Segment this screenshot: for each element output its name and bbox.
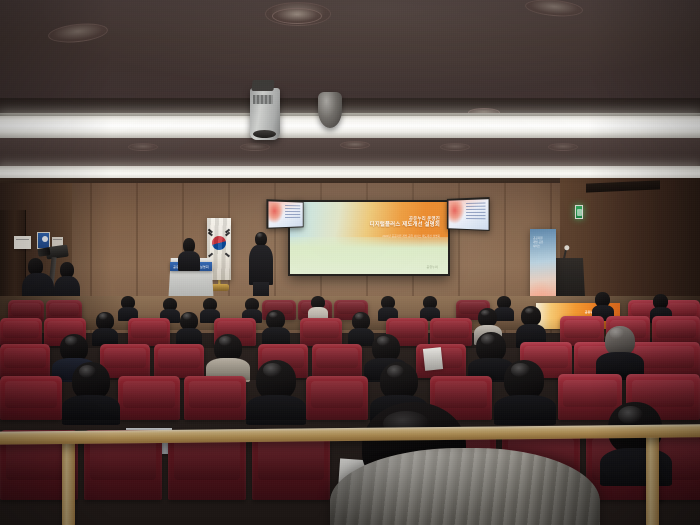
ceiling-projector (250, 88, 280, 140)
wall-notice-paper (14, 236, 31, 249)
attendee (176, 312, 202, 344)
seat (0, 318, 42, 346)
seat (118, 376, 180, 420)
side-monitor-left-screen (268, 201, 302, 227)
attendee-head (504, 360, 544, 400)
seat (430, 318, 472, 346)
exit-sign-icon (575, 205, 583, 219)
attendee (246, 360, 306, 422)
trigram-mark (208, 253, 213, 257)
seat (300, 318, 342, 346)
attendee (494, 360, 556, 422)
ceiling-downlight (340, 141, 370, 149)
rollup-banner-text: 공공자원 개방·공유 서비스 (533, 237, 543, 249)
side-monitor-right (447, 197, 490, 231)
seat (128, 318, 170, 346)
ceiling-surface (0, 0, 700, 98)
attendee-head (521, 306, 541, 326)
ceiling-light-cove-upper (0, 116, 700, 138)
camera-lens-icon (38, 247, 51, 257)
screen-subtitle: 2024년 공공자원 개방·공유 서비스 제도개선 설명회 (382, 235, 440, 239)
side-monitor-left (266, 199, 303, 229)
attendee (596, 326, 644, 378)
trigram-mark (208, 229, 213, 233)
attendee (62, 362, 120, 422)
side-monitor-right-screen (448, 199, 488, 230)
ceiling-speaker-dome (318, 92, 342, 128)
projector-mount (251, 80, 274, 91)
host-body (178, 251, 200, 271)
seat (306, 376, 368, 420)
screen-surface: 공유누리 운영진 디지털플러스 제도개선 설명회 2024년 공공자원 개방·공… (290, 202, 448, 274)
trigram-mark (208, 232, 213, 236)
auditorium-photo: 공유누리 운영진 디지털플러스 제도개선 설명회 2024년 공공자원 개방·공… (0, 0, 700, 525)
host-at-lectern (178, 238, 200, 268)
trigram-mark (225, 253, 230, 257)
attendee-shoulders (62, 395, 120, 425)
ceiling-downlight (440, 143, 470, 151)
ceiling-downlight (128, 143, 158, 151)
main-projection-screen: 공유누리 운영진 디지털플러스 제도개선 설명회 2024년 공공자원 개방·공… (288, 200, 450, 276)
attendee-shoulders (246, 395, 306, 425)
ceiling-downlight (240, 143, 270, 151)
screen-title: 공유누리 운영진 디지털플러스 제도개선 설명회 (370, 216, 440, 230)
attendee (516, 306, 546, 346)
screen-logo: 공유누리 (427, 265, 439, 269)
attendee-shoulders (262, 327, 290, 345)
projector-lens (253, 130, 276, 138)
handrail-post (646, 432, 659, 525)
attendee-shoulders (494, 395, 556, 425)
seat (184, 376, 246, 420)
trigram-mark (225, 229, 230, 233)
handrail-post (62, 432, 75, 525)
attendee-head (256, 360, 296, 400)
trigram-mark (225, 232, 230, 236)
attendee-shoulders (600, 448, 672, 486)
seat (154, 344, 204, 378)
attendee (262, 310, 290, 344)
presenter-on-stage (248, 232, 274, 302)
attendee (206, 334, 250, 380)
projector-vent (253, 95, 273, 104)
attendee (420, 296, 440, 320)
rollup-line3: 서비스 (533, 245, 543, 249)
seat (0, 344, 50, 378)
presenter-head (255, 232, 267, 246)
flag-stand-base (211, 284, 229, 291)
attendee (118, 296, 138, 320)
seat (312, 344, 362, 378)
taeguk-symbol (212, 236, 226, 250)
screen-title-line2: 디지털플러스 제도개선 설명회 (370, 222, 440, 230)
attendee (600, 402, 672, 482)
seat (0, 376, 62, 420)
presenter-body (249, 245, 273, 285)
attendee (378, 296, 398, 320)
ceiling-downlight (548, 143, 578, 151)
ceiling-downlight (272, 8, 322, 24)
attendee (308, 296, 328, 320)
